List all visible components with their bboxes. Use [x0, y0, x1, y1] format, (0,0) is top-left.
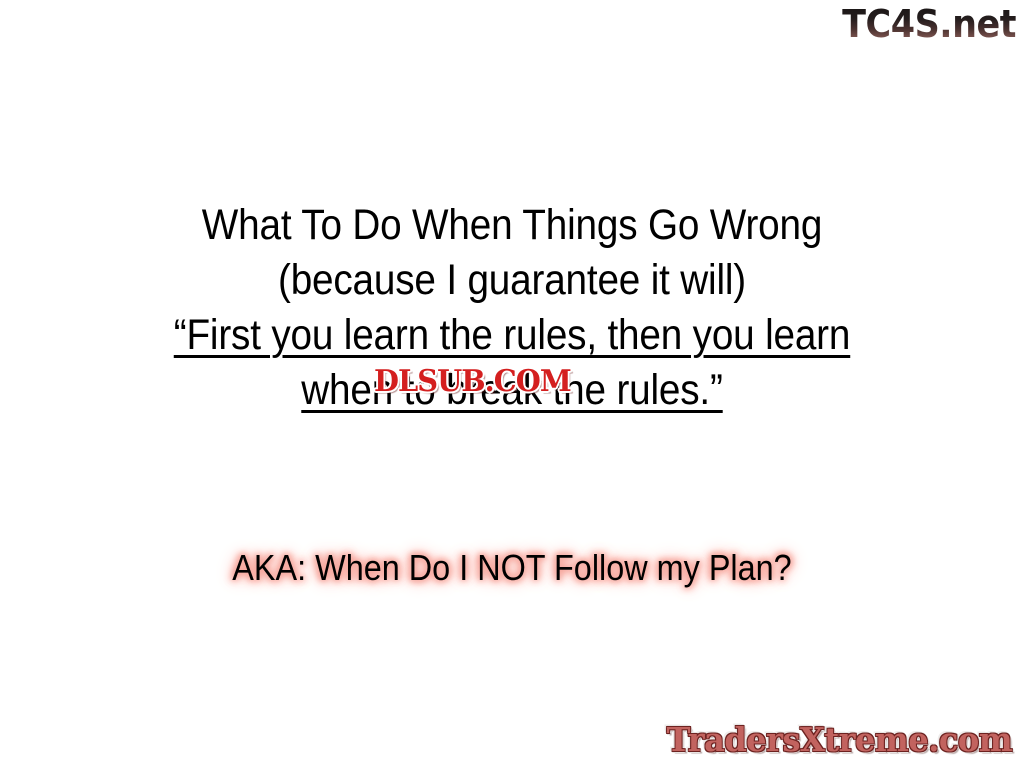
heading-line-3: “First you learn the rules, then you lea…	[51, 308, 973, 363]
slide-canvas: TC4S.net What To Do When Things Go Wrong…	[0, 0, 1024, 768]
tradersxtreme-logo: TradersXtreme.com	[667, 720, 1012, 760]
heading-line-1: What To Do When Things Go Wrong	[51, 198, 973, 253]
heading-line-2: (because I guarantee it will)	[51, 253, 973, 308]
aka-subheading: AKA: When Do I NOT Follow my Plan?	[51, 545, 973, 591]
dlsub-watermark: DLSUB.COM	[374, 366, 571, 398]
tc4s-logo: TC4S.net	[842, 2, 1016, 46]
